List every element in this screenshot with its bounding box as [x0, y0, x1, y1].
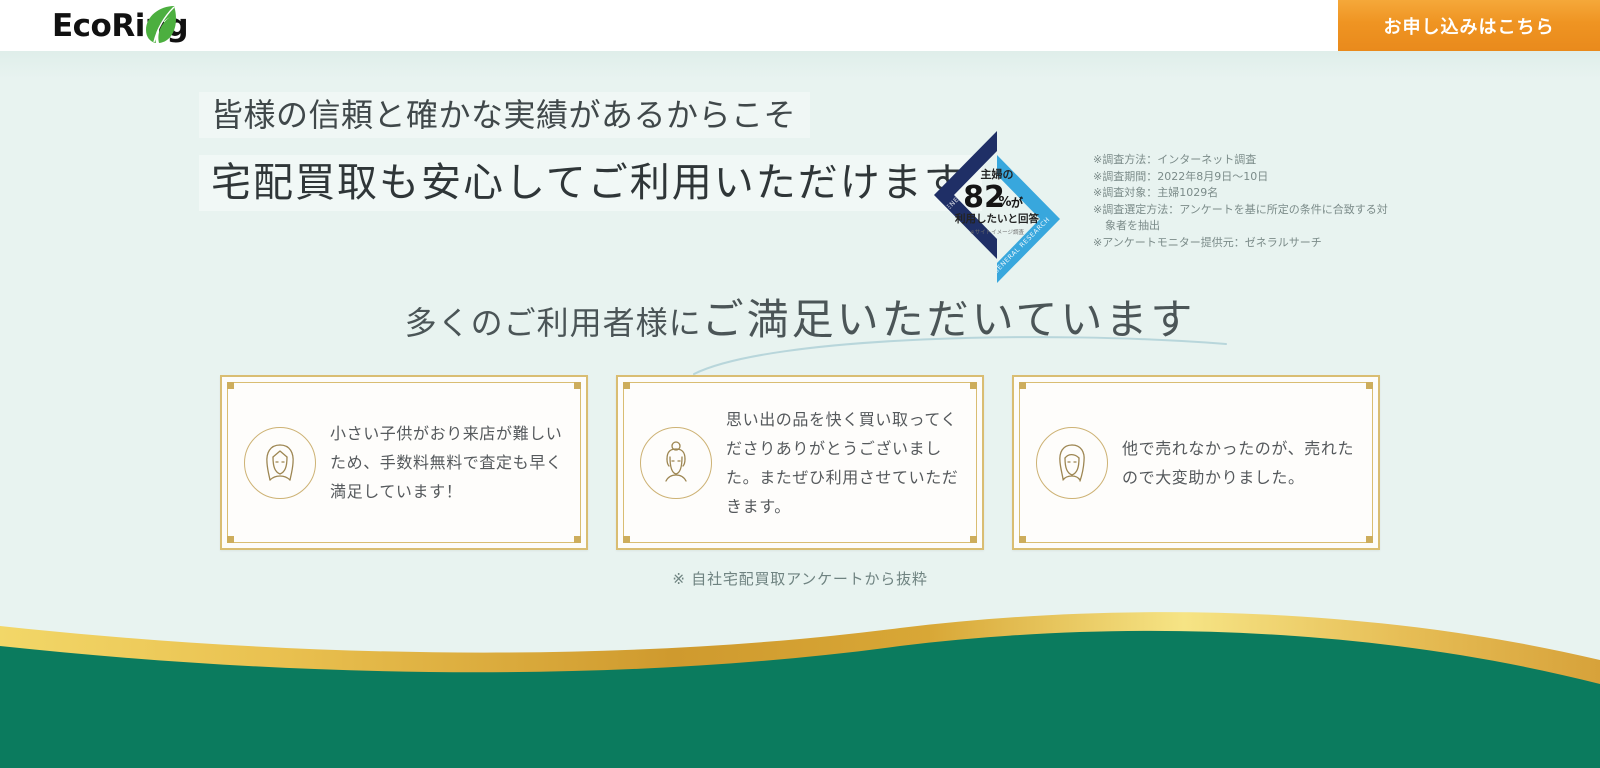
corner-ornament-icon: [1019, 382, 1026, 389]
wave-footer-decoration: [0, 598, 1600, 768]
corner-ornament-icon: [574, 382, 581, 389]
testimonial-text: 他で売れなかったのが、売れたので大変助かりました。: [1122, 434, 1358, 492]
badge-percent-symbol: %: [998, 195, 1011, 210]
logo-text: EcoRing: [52, 8, 188, 44]
corner-ornament-icon: [227, 536, 234, 543]
corner-ornament-icon: [227, 382, 234, 389]
badge-diamond-graphic: GENERAL RESEARCH GENERAL RESEARCH 主婦の 82…: [922, 127, 1072, 287]
apply-cta-button[interactable]: お申し込みはこちら: [1338, 0, 1600, 51]
survey-note: ※調査対象：主婦1029名: [1093, 185, 1423, 202]
corner-ornament-icon: [623, 382, 630, 389]
site-header: EcoRing お申し込みはこちら: [0, 0, 1600, 51]
testimonial-source-note: ※ 自社宅配買取アンケートから抜粋: [0, 568, 1600, 589]
badge-sub-label: ※サイトイメージ調査: [970, 228, 1024, 236]
survey-notes-list: ※調査方法：インターネット調査 ※調査期間：2022年8月9日〜10日 ※調査対…: [1093, 152, 1423, 251]
corner-ornament-icon: [623, 536, 630, 543]
satisfaction-title-big: ご満足いただいています: [702, 295, 1196, 344]
testimonial-card: 他で売れなかったのが、売れたので大変助かりました。: [1012, 375, 1380, 550]
testimonial-card-inner: 思い出の品を快く買い取ってくださりありがとうございました。またぜひ利用させていた…: [623, 382, 977, 543]
satisfaction-title: 多くのご利用者様にご満足いただいています: [0, 286, 1600, 347]
woman-bun-hair-avatar-icon: [640, 427, 712, 499]
survey-badge: GENERAL RESEARCH GENERAL RESEARCH 主婦の 82…: [922, 127, 1072, 287]
badge-top-label: 主婦の: [981, 167, 1014, 181]
testimonial-card: 小さい子供がおり来店が難しいため、手数料無料で査定も早く満足しています！: [220, 375, 588, 550]
survey-note: ※調査選定方法：アンケートを基に所定の条件に合致する対: [1093, 202, 1423, 219]
testimonial-card-inner: 他で売れなかったのが、売れたので大変助かりました。: [1019, 382, 1373, 543]
survey-note: ※調査方法：インターネット調査: [1093, 152, 1423, 169]
hero-headline-line1: 皆様の信頼と確かな実績があるからこそ: [199, 92, 810, 138]
testimonial-card: 思い出の品を快く買い取ってくださりありがとうございました。またぜひ利用させていた…: [616, 375, 984, 550]
corner-ornament-icon: [574, 536, 581, 543]
satisfaction-title-small: 多くのご利用者様に: [405, 304, 702, 342]
hero-section: 皆様の信頼と確かな実績があるからこそ 宅配買取も安心してご利用いただけます GE…: [0, 51, 1600, 261]
woman-side-hair-avatar-icon: [1036, 427, 1108, 499]
corner-ornament-icon: [1366, 382, 1373, 389]
testimonial-card-inner: 小さい子供がおり来店が難しいため、手数料無料で査定も早く満足しています！: [227, 382, 581, 543]
survey-note: ※アンケートモニター提供元：ゼネラルサーチ: [1093, 235, 1423, 252]
woman-long-hair-avatar-icon: [244, 427, 316, 499]
badge-bottom-label: 利用したいと回答: [955, 212, 1039, 225]
testimonial-text: 思い出の品を快く買い取ってくださりありがとうございました。またぜひ利用させていた…: [726, 405, 962, 521]
corner-ornament-icon: [970, 536, 977, 543]
testimonial-card-list: 小さい子供がおり来店が難しいため、手数料無料で査定も早く満足しています！: [0, 375, 1600, 550]
survey-note-continuation: 象者を抽出: [1093, 218, 1423, 235]
corner-ornament-icon: [1019, 536, 1026, 543]
corner-ornament-icon: [1366, 536, 1373, 543]
corner-ornament-icon: [970, 382, 977, 389]
testimonial-text: 小さい子供がおり来店が難しいため、手数料無料で査定も早く満足しています！: [330, 419, 566, 506]
site-logo[interactable]: EcoRing: [52, 6, 242, 46]
hero-headline-line2: 宅配買取も安心してご利用いただけます: [199, 155, 982, 211]
survey-note: ※調査期間：2022年8月9日〜10日: [1093, 169, 1423, 186]
badge-percent-suffix: が: [1011, 195, 1023, 210]
